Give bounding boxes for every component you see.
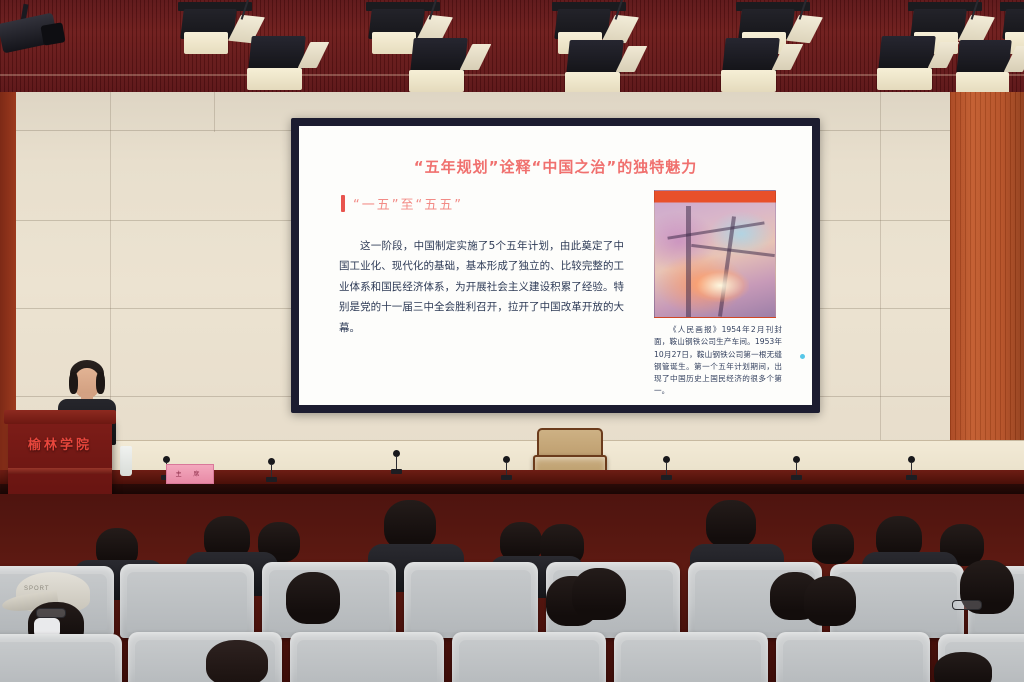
table-edge: [0, 470, 1024, 484]
microphone: [905, 456, 917, 480]
projection-screen: “五年规划”诠释“中国之治”的独特魅力 “一五”至“五五” 这一阶段，中国制定实…: [299, 126, 812, 405]
audience-head: [206, 640, 268, 682]
stage-light-rig: [0, 0, 1024, 92]
audience-head: [804, 576, 856, 626]
table-namecard: 主 席: [166, 464, 214, 484]
camera-icon: [0, 4, 66, 60]
lecture-hall-photo: “五年规划”诠释“中国之治”的独特魅力 “一五”至“五五” 这一阶段，中国制定实…: [0, 0, 1024, 682]
projection-screen-frame: “五年规划”诠释“中国之治”的独特魅力 “一五”至“五五” 这一阶段，中国制定实…: [291, 118, 820, 413]
audience-head: [812, 524, 854, 564]
auditorium-seat: [776, 632, 930, 682]
audience-head: [572, 568, 626, 620]
microphone: [500, 456, 512, 480]
audience-head: [384, 500, 436, 550]
slide: “五年规划”诠释“中国之治”的独特魅力 “一五”至“五五” 这一阶段，中国制定实…: [299, 126, 812, 405]
auditorium-seat: [120, 564, 254, 638]
auditorium-seat: [614, 632, 768, 682]
slide-body-text: 这一阶段，中国制定实施了5个五年计划，由此奠定了中国工业化、现代化的基础，基本形…: [339, 236, 624, 338]
figure-caption: 《人民画报》1954年2月刊封面，鞍山钢铁公司生产车间。1953年10月27日，…: [654, 324, 782, 398]
screen-indicator-led: [800, 354, 805, 359]
audience-head: [934, 652, 992, 682]
podium-institution-name: 榆林学院: [8, 434, 112, 453]
water-bottle: [120, 446, 132, 476]
auditorium-seat: [0, 634, 122, 682]
microphone: [390, 450, 402, 474]
audience-head: [706, 500, 756, 548]
glasses-icon: [952, 600, 982, 610]
wood-column-right: [950, 92, 1024, 480]
auditorium-seat: [452, 632, 606, 682]
audience-head: [286, 572, 340, 624]
microphone: [265, 458, 277, 482]
slide-subtitle: “一五”至“五五”: [353, 194, 463, 213]
glasses-icon: [36, 608, 66, 618]
figure-image: [654, 190, 776, 318]
table-shadow: [0, 484, 1024, 494]
auditorium-seat: [290, 632, 444, 682]
auditorium-seat: [404, 562, 538, 638]
cap-text: SPORT: [24, 586, 50, 592]
slide-figure: 《人民画报》1954年2月刊封面，鞍山钢铁公司生产车间。1953年10月27日，…: [654, 190, 776, 398]
slide-title: “五年规划”诠释“中国之治”的独特魅力: [299, 156, 812, 177]
namecard-text: 主 席: [167, 465, 213, 485]
accent-bar: [341, 195, 345, 212]
slide-subtitle-group: “一五”至“五五”: [341, 194, 463, 213]
microphone: [790, 456, 802, 480]
microphone: [660, 456, 672, 480]
